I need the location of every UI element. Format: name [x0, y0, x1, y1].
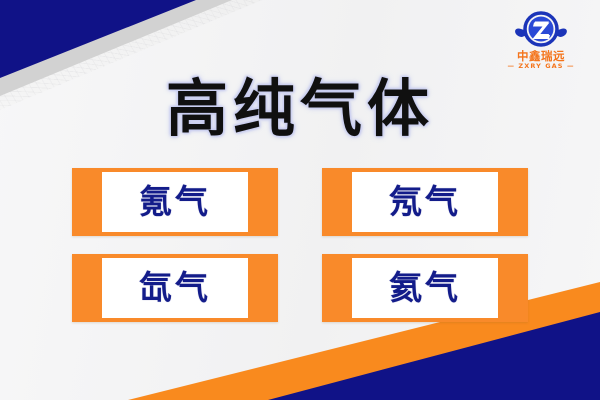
z-emblem-icon — [512, 8, 570, 50]
gas-card-label: 氦气 — [389, 270, 461, 306]
gas-card-grid: 氪气 氖气 氙气 氦气 — [72, 168, 528, 322]
gas-card-xenon[interactable]: 氙气 — [72, 254, 278, 322]
page-title: 高纯气体 — [0, 74, 600, 144]
gas-card-inner: 氪气 — [102, 172, 248, 232]
gas-card-label: 氖气 — [389, 184, 461, 220]
gas-card-krypton[interactable]: 氪气 — [72, 168, 278, 236]
gas-card-inner: 氙气 — [102, 258, 248, 318]
gas-card-label: 氪气 — [139, 184, 211, 220]
brand-logo: 中鑫瑞远 — ZXRY GAS — — [498, 8, 584, 74]
brand-name-en: — ZXRY GAS — — [498, 62, 584, 71]
gas-card-inner: 氦气 — [352, 258, 498, 318]
gas-card-neon[interactable]: 氖气 — [322, 168, 528, 236]
gas-card-inner: 氖气 — [352, 172, 498, 232]
brand-name-cn: 中鑫瑞远 — [498, 50, 584, 62]
gas-card-helium[interactable]: 氦气 — [322, 254, 528, 322]
poster-canvas: 中鑫瑞远 — ZXRY GAS — 高纯气体 氪气 氖气 氙气 氦气 — [0, 0, 600, 400]
gas-card-label: 氙气 — [139, 270, 211, 306]
